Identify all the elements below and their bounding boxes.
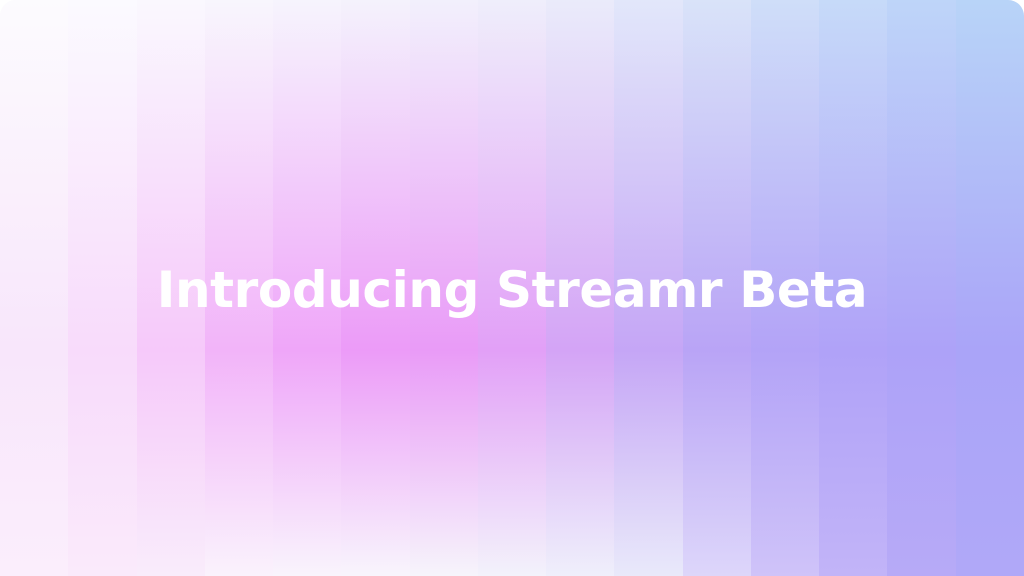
gradient-band — [887, 0, 955, 576]
gradient-band — [68, 0, 136, 576]
gradient-band — [819, 0, 887, 576]
gradient-band — [0, 0, 68, 576]
gradient-band — [478, 0, 546, 576]
gradient-band — [751, 0, 819, 576]
gradient-band — [614, 0, 682, 576]
gradient-band — [683, 0, 751, 576]
gradient-band — [956, 0, 1024, 576]
gradient-band — [137, 0, 205, 576]
gradient-band-strip — [0, 0, 1024, 576]
gradient-band — [546, 0, 614, 576]
gradient-band — [205, 0, 273, 576]
hero-banner: Introducing Streamr Beta — [0, 0, 1024, 576]
gradient-band — [341, 0, 409, 576]
gradient-band — [410, 0, 478, 576]
gradient-band — [273, 0, 341, 576]
